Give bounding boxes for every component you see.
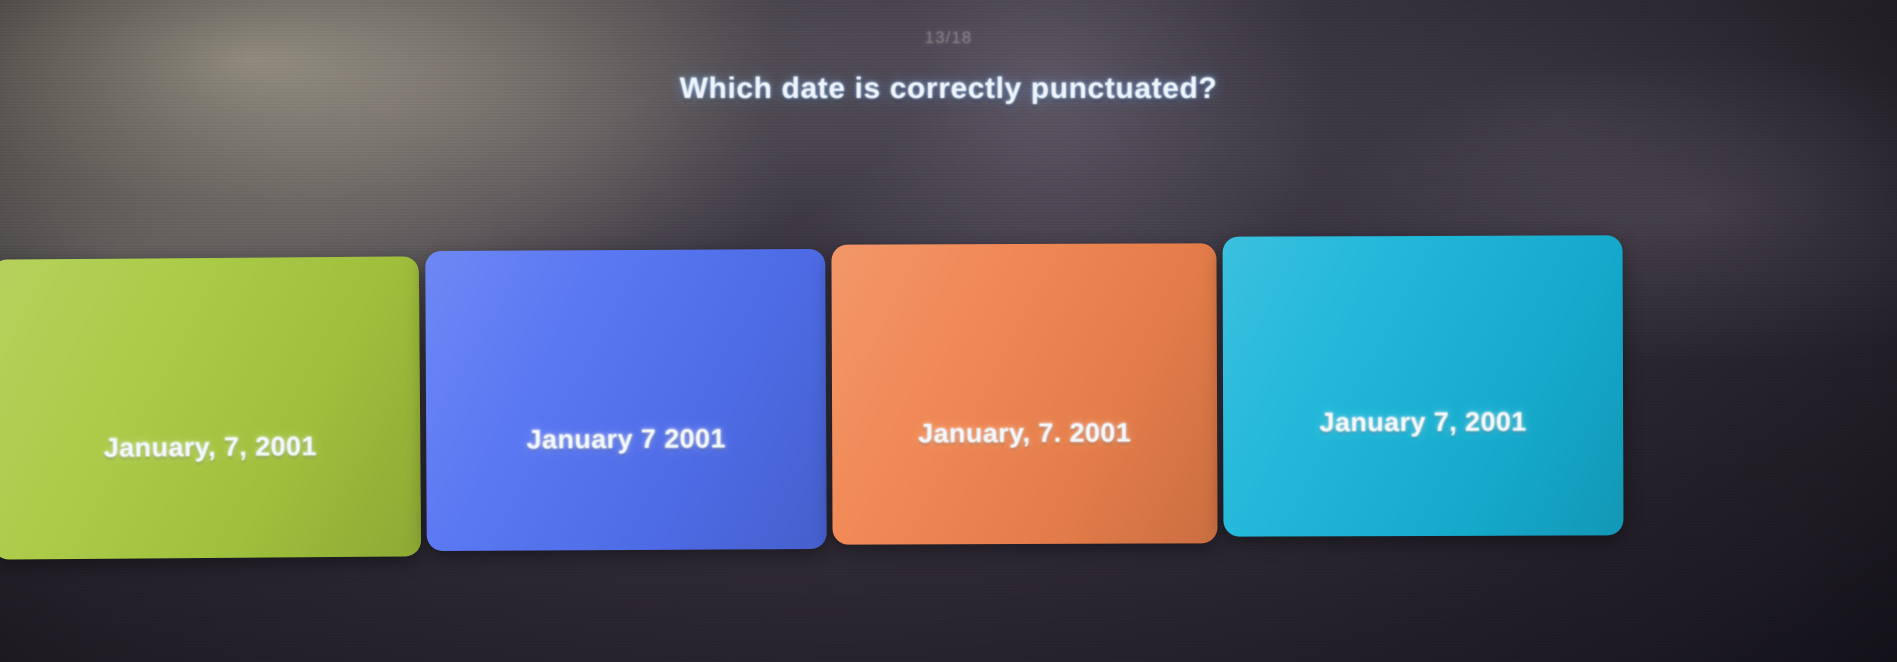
answer-option-2-label: January 7 2001 xyxy=(526,423,725,455)
answer-2-glare xyxy=(425,249,827,551)
answer-option-1[interactable]: January, 7, 2001 xyxy=(0,256,421,559)
answer-options-row: January, 7, 2001 January 7 2001 January,… xyxy=(0,248,1897,558)
answer-option-3[interactable]: January, 7. 2001 xyxy=(831,243,1217,544)
answer-option-4-label: January 7, 2001 xyxy=(1319,406,1526,438)
answer-4-glare xyxy=(1223,235,1624,536)
quiz-screen: 13/18 Which date is correctly punctuated… xyxy=(0,0,1897,662)
answer-1-glare xyxy=(0,256,421,559)
question-text: Which date is correctly punctuated? xyxy=(0,72,1897,106)
answer-3-glare xyxy=(831,243,1217,544)
answer-option-1-label: January, 7, 2001 xyxy=(104,431,317,464)
answer-option-3-label: January, 7. 2001 xyxy=(918,417,1131,449)
question-counter: 13/18 xyxy=(0,28,1897,48)
answer-option-4[interactable]: January 7, 2001 xyxy=(1223,235,1624,536)
answer-option-2[interactable]: January 7 2001 xyxy=(425,249,827,551)
